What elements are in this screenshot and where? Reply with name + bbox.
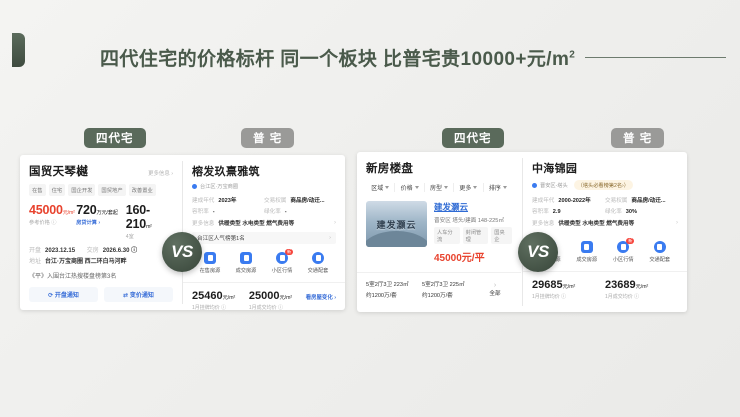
chevron-right-icon: › xyxy=(478,282,512,289)
open-date-label: 开盘 xyxy=(29,248,41,254)
community-price-row: 29685元/m² 1月挂牌均价 ⓘ 23689元/m² 1月成交均价 ⓘ xyxy=(532,279,678,300)
listed-price-sub: 1月挂牌均价 ⓘ xyxy=(532,293,605,300)
unit-price-block: 45000元/m² 参考价格 ⓘ xyxy=(29,203,76,240)
price-unit: 元/m² xyxy=(63,210,75,216)
chevron-down-icon xyxy=(473,186,477,189)
view-all-layouts-button[interactable]: › 全部 xyxy=(478,282,512,297)
chevron-down-icon xyxy=(415,186,419,189)
title-rule xyxy=(585,57,726,58)
ranking-text[interactable]: 《平》入围台江热搜楼盘榜第3名 xyxy=(29,271,173,280)
deal-price-sub: 1月成交均价 ⓘ xyxy=(249,304,306,310)
total-price-value: 720万元/套起 xyxy=(76,203,126,217)
more-info-link[interactable]: 更多信息 › xyxy=(148,169,173,177)
price-change-notification-button[interactable]: ⇄ 变价通知 xyxy=(104,287,173,302)
filter-more[interactable]: 更多 xyxy=(454,183,483,192)
new-badge: 新 xyxy=(626,238,634,244)
opening-notification-button[interactable]: ⟳ 开盘通知 xyxy=(29,287,98,302)
price-change-link[interactable]: 看房屋变化 › xyxy=(306,290,336,301)
project-name: 国贸天琴樾 xyxy=(29,163,88,179)
listing-tag: 人车分流 xyxy=(434,227,460,244)
price-unit: 万元/套起 xyxy=(96,210,117,216)
badge-fourth-gen-right: 四代宅 xyxy=(442,128,504,148)
project-tag: 国企开发 xyxy=(68,184,95,196)
icon-label: 交通配套 xyxy=(300,267,336,274)
attr-key: 绿化率 xyxy=(605,207,622,218)
listing-info: 建发灏云 晋安区 塔头/建面 148-225㎡ 人车分流 封闭管理 国央企 45… xyxy=(434,201,512,264)
listing-subtitle: 晋安区 塔头/建面 148-225㎡ xyxy=(434,216,512,224)
listed-price-sub: 1月挂牌均价 ⓘ xyxy=(192,304,249,310)
listing-tag: 封闭管理 xyxy=(463,227,489,244)
community-location-row: 晋安区-塔头 （塔头必看榜第2名›） xyxy=(532,180,678,190)
filter-label: 价格 xyxy=(401,183,413,192)
attr-value: 2000-2022年 xyxy=(558,196,590,207)
community-attribute-rows: 建成年代2023年 交易权属商品房/动迁... 容积率- 绿化率- 更多信息 供… xyxy=(192,196,336,227)
community-location[interactable]: 台江区·万宝商圈 xyxy=(200,183,238,190)
page-title: 四代住宅的价格标杆 同一个板块 比普宅贵10000+元/m2 xyxy=(100,44,575,71)
attr-value: 商品房/动迁... xyxy=(631,196,665,207)
price-unit: 元/m² xyxy=(563,284,576,290)
attr-key: 容积率 xyxy=(532,207,549,218)
filter-label: 房型 xyxy=(430,183,442,192)
page-title-text: 四代住宅的价格标杆 同一个板块 比普宅贵10000+元/m xyxy=(100,49,569,70)
more-info-value: 供暖类型 水电类型 燃气费用等 xyxy=(558,219,634,227)
slide-root: 四代住宅的价格标杆 同一个板块 比普宅贵10000+元/m2 四代宅 普 宅 四… xyxy=(0,0,740,417)
project-meta: 开盘2023.12.15 交房2026.6.30 ⓘ 地址台江·万宝商圈 西二环… xyxy=(29,246,173,268)
attribute-row: 容积率- 绿化率- xyxy=(192,207,336,218)
comparison-group-right: 新房楼盘 区域 价格 房型 更多 排序 建发灏云 建发灏云 晋安区 塔头/建面 … xyxy=(357,152,687,312)
listing-price: 45000元/平 xyxy=(434,249,512,264)
layout-price: 约1200万/套 xyxy=(422,291,478,299)
icon-label: 小区行情 xyxy=(605,256,642,263)
vs-badge-right: VS xyxy=(518,232,558,272)
attribute-row: 容积率2.9 绿化率30% xyxy=(532,207,678,218)
attr-key: 绿化率 xyxy=(264,207,281,218)
icon-label: 交通配套 xyxy=(642,256,679,263)
more-info-row[interactable]: 更多信息 供暖类型 水电类型 燃气费用等 › xyxy=(532,219,678,227)
icon-label: 在售房源 xyxy=(192,267,228,274)
address-value: 台江·万宝商圈 西二环白马河畔 xyxy=(45,259,127,265)
listing-thumbnail: 建发灏云 xyxy=(366,201,427,247)
chevron-down-icon xyxy=(385,186,389,189)
filter-label: 区域 xyxy=(371,183,383,192)
chevron-right-icon: › xyxy=(676,220,678,226)
more-info-label: 更多信息 xyxy=(192,219,214,227)
attr-key: 交易权属 xyxy=(605,196,627,207)
attr-value: 2023年 xyxy=(218,196,236,207)
layout-option[interactable]: 5室2厅3卫 225㎡ 约1200万/套 xyxy=(422,280,478,299)
area-value: 160-210m² xyxy=(126,203,173,231)
filter-region[interactable]: 区域 xyxy=(366,183,395,192)
open-date-value: 2023.12.15 xyxy=(45,248,75,254)
filter-roomtype[interactable]: 房型 xyxy=(425,183,454,192)
icon-label: 小区行情 xyxy=(264,267,300,274)
slide-title-row: 四代住宅的价格标杆 同一个板块 比普宅贵10000+元/m2 xyxy=(100,42,726,72)
chevron-down-icon xyxy=(503,186,507,189)
vs-badge-left: VS xyxy=(162,232,202,272)
listed-price-block: 25460元/m² 1月挂牌均价 ⓘ xyxy=(192,290,249,310)
market-trend-icon[interactable]: 新小区行情 xyxy=(605,241,642,263)
mortgage-calculator-link[interactable]: 房贷计算 › xyxy=(76,219,126,226)
deliver-date-label: 交房 xyxy=(87,248,99,254)
thumbnail-text: 建发灏云 xyxy=(366,201,427,247)
card-new-house-list: 新房楼盘 区域 价格 房型 更多 排序 建发灏云 建发灏云 晋安区 塔头/建面 … xyxy=(357,152,521,312)
community-name: 榕发玖熹雅筑 xyxy=(192,163,336,179)
ranking-pill[interactable]: （塔头必看榜第2名›） xyxy=(574,180,633,190)
sold-listings-icon[interactable]: 成交房源 xyxy=(569,241,606,263)
price-unit: 元/m² xyxy=(279,295,292,301)
listing-name[interactable]: 建发灏云 xyxy=(434,201,512,213)
community-location-row: 台江区·万宝商圈 xyxy=(192,183,336,190)
transit-facilities-icon[interactable]: 交通配套 xyxy=(300,252,336,274)
project-tag: 住宅 xyxy=(49,184,66,196)
chevron-right-icon: › xyxy=(329,235,331,241)
community-price-row: 25460元/m² 1月挂牌均价 ⓘ 25000元/m² 1月成交均价 ⓘ 看房… xyxy=(192,290,336,310)
page-title-superscript: 2 xyxy=(569,49,575,60)
unit-price-sub: 参考价格 ⓘ xyxy=(29,219,76,226)
layout-option[interactable]: 5室2厅3卫 223㎡ 约1200万/套 xyxy=(366,280,422,299)
price-unit: 元/m² xyxy=(636,284,649,290)
popularity-rank-text: 台江区人气榜第1名 xyxy=(197,234,245,242)
attr-value: 30% xyxy=(626,207,637,218)
more-info-row[interactable]: 更多信息 供暖类型 水电类型 燃气费用等 › xyxy=(192,219,336,227)
more-info-label: 更多信息 xyxy=(532,219,554,227)
project-tag-list: 在售 住宅 国企开发 国贸地产 改善置业 xyxy=(29,184,173,196)
project-tag: 国贸地产 xyxy=(98,184,125,196)
icon-label: 成交房源 xyxy=(569,256,606,263)
filter-label: 更多 xyxy=(459,183,471,192)
community-location[interactable]: 晋安区-塔头 xyxy=(540,182,568,189)
price-unit: 元/m² xyxy=(223,295,236,301)
layout-row: 5室2厅3卫 223㎡ 约1200万/套 5室2厅3卫 225㎡ 约1200万/… xyxy=(366,280,512,299)
filter-price[interactable]: 价格 xyxy=(395,183,424,192)
filter-sort[interactable]: 排序 xyxy=(484,183,512,192)
listing-tag-list: 人车分流 封闭管理 国央企 xyxy=(434,227,512,244)
divider xyxy=(523,271,687,272)
filter-bar: 区域 价格 房型 更多 排序 xyxy=(366,183,512,192)
deal-price-value: 23689元/m² xyxy=(605,279,678,291)
new-badge: 新 xyxy=(285,249,293,255)
attr-value: - xyxy=(213,207,215,218)
listed-price-block: 29685元/m² 1月挂牌均价 ⓘ xyxy=(532,279,605,300)
location-pin-icon xyxy=(192,184,197,189)
price-unit: m² xyxy=(146,224,152,230)
transit-facilities-icon[interactable]: 交通配套 xyxy=(642,241,679,263)
left-accent-marker xyxy=(12,33,25,67)
card-community-zhonghai: 中海锦园 晋安区-塔头 （塔头必看榜第2名›） 建成年代2000-2022年 交… xyxy=(523,152,687,312)
badge-ordinary-right: 普 宅 xyxy=(611,128,664,148)
attr-value: 2.9 xyxy=(553,207,561,218)
attr-value: 商品房/动迁... xyxy=(290,196,324,207)
icon-label: 成交房源 xyxy=(228,267,264,274)
badge-fourth-gen-left: 四代宅 xyxy=(84,128,146,148)
market-trend-icon[interactable]: 新小区行情 xyxy=(264,252,300,274)
layout-spec: 5室2厅3卫 225㎡ xyxy=(422,280,478,288)
attr-key: 容积率 xyxy=(192,207,209,218)
deliver-date-value: 2026.6.30 ⓘ xyxy=(103,248,137,254)
meta-address-row: 地址台江·万宝商圈 西二环白马河畔 xyxy=(29,257,173,268)
address-label: 地址 xyxy=(29,259,41,265)
layout-price: 约1200万/套 xyxy=(366,291,422,299)
card-new-house-guomao: 国贸天琴樾 更多信息 › 在售 住宅 国企开发 国贸地产 改善置业 45000元… xyxy=(20,155,182,310)
divider xyxy=(183,282,345,283)
popularity-rank-banner[interactable]: 台江区人气榜第1名 › xyxy=(192,232,336,244)
attribute-row: 建成年代2000-2022年 交易权属商品房/动迁... xyxy=(532,196,678,207)
community-action-icons: 在售房源 成交房源 新小区行情 交通配套 xyxy=(192,252,336,274)
unit-price-value: 45000元/m² xyxy=(29,203,76,217)
community-attribute-rows: 建成年代2000-2022年 交易权属商品房/动迁... 容积率2.9 绿化率3… xyxy=(532,196,678,227)
chevron-right-icon: › xyxy=(334,220,336,226)
view-all-label: 全部 xyxy=(478,289,512,297)
attribute-row: 建成年代2023年 交易权属商品房/动迁... xyxy=(192,196,336,207)
deal-price-sub: 1月成交均价 ⓘ xyxy=(605,293,678,300)
divider xyxy=(357,272,521,273)
listed-price-value: 29685元/m² xyxy=(532,279,605,291)
badge-ordinary-left: 普 宅 xyxy=(241,128,294,148)
attr-key: 建成年代 xyxy=(532,196,554,207)
list-title: 新房楼盘 xyxy=(366,160,512,176)
more-info-value: 供暖类型 水电类型 燃气费用等 xyxy=(218,219,294,227)
deal-price-block: 25000元/m² 1月成交均价 ⓘ xyxy=(249,290,306,310)
notification-button-row: ⟳ 开盘通知 ⇄ 变价通知 xyxy=(29,287,173,302)
total-price-block: 720万元/套起 房贷计算 › xyxy=(76,203,126,240)
project-tag: 在售 xyxy=(29,184,46,196)
attr-value: - xyxy=(285,207,287,218)
location-pin-icon xyxy=(532,183,537,188)
price-summary-row: 45000元/m² 参考价格 ⓘ 720万元/套起 房贷计算 › 160-210… xyxy=(29,203,173,240)
deal-price-block: 23689元/m² 1月成交均价 ⓘ xyxy=(605,279,678,300)
card-community-rongfa: 榕发玖熹雅筑 台江区·万宝商圈 建成年代2023年 交易权属商品房/动迁... … xyxy=(183,155,345,310)
area-block: 160-210m² 4室 xyxy=(126,203,173,240)
listed-price-value: 25460元/m² xyxy=(192,290,249,302)
listing-item[interactable]: 建发灏云 建发灏云 晋安区 塔头/建面 148-225㎡ 人车分流 封闭管理 国… xyxy=(366,201,512,264)
community-name: 中海锦园 xyxy=(532,160,678,176)
deal-price-value: 25000元/m² xyxy=(249,290,306,302)
attr-key: 交易权属 xyxy=(264,196,286,207)
sold-listings-icon[interactable]: 成交房源 xyxy=(228,252,264,274)
layout-spec: 5室2厅3卫 223㎡ xyxy=(366,280,422,288)
attr-key: 建成年代 xyxy=(192,196,214,207)
listing-tag: 国央企 xyxy=(491,227,512,244)
meta-dates-row: 开盘2023.12.15 交房2026.6.30 ⓘ xyxy=(29,246,173,257)
project-tag: 改善置业 xyxy=(129,184,156,196)
filter-label: 排序 xyxy=(489,183,501,192)
chevron-down-icon xyxy=(444,186,448,189)
